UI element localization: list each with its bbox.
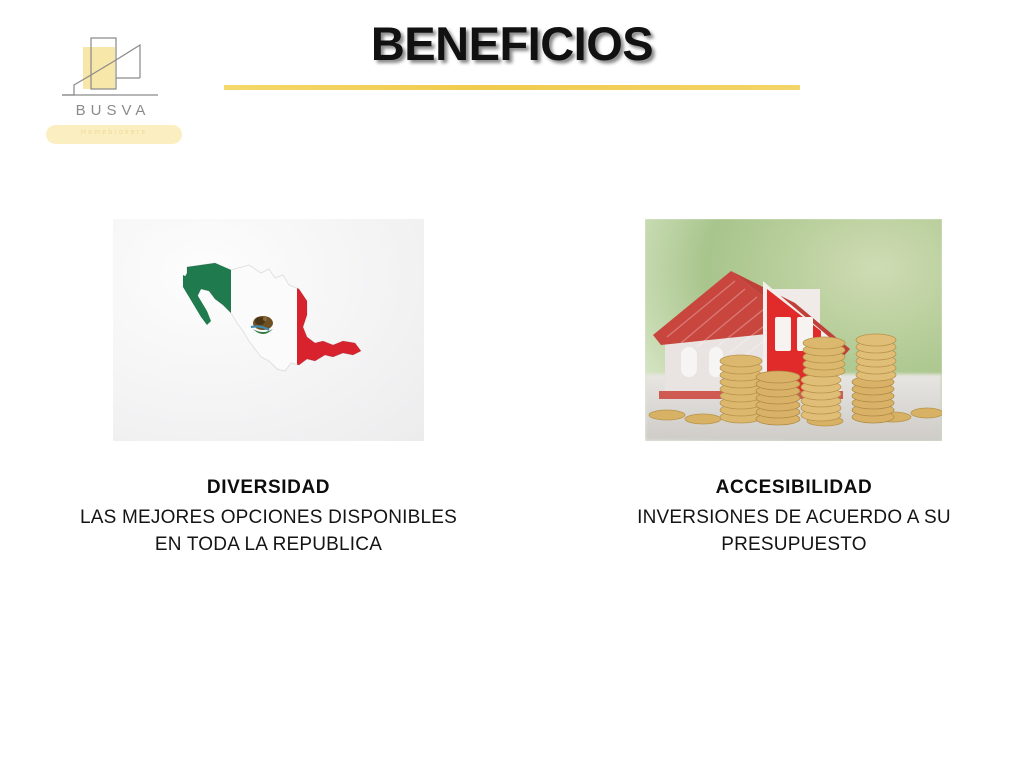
mexico-map-image — [113, 219, 424, 441]
benefit-card-accesibilidad: ACCESIBILIDAD INVERSIONES DE ACUERDO A S… — [645, 219, 942, 559]
benefit-description-line2: EN TODA LA REPUBLICA — [41, 531, 496, 559]
slide-beneficios: BUSVA Homebrokers BENEFICIOS — [0, 0, 1024, 768]
benefit-description-line1: INVERSIONES DE ACUERDO A SU — [585, 504, 1003, 532]
logo-wordmark: BUSVA — [28, 102, 198, 119]
title-underline-rule — [224, 85, 800, 90]
benefit-caption: DIVERSIDAD LAS MEJORES OPCIONES DISPONIB… — [41, 475, 496, 559]
benefit-heading: DIVERSIDAD — [41, 475, 496, 501]
benefit-description-line2: PRESUPUESTO — [585, 531, 1003, 559]
house-coins-icon — [645, 219, 942, 441]
logo-tagline: Homebrokers — [46, 129, 182, 136]
benefit-card-diversidad: DIVERSIDAD LAS MEJORES OPCIONES DISPONIB… — [113, 219, 424, 559]
benefit-description-line1: LAS MEJORES OPCIONES DISPONIBLES — [41, 504, 496, 532]
house-coins-image — [645, 219, 942, 441]
benefit-caption: ACCESIBILIDAD INVERSIONES DE ACUERDO A S… — [585, 475, 1003, 559]
benefit-heading: ACCESIBILIDAD — [585, 475, 1003, 501]
page-title: BENEFICIOS — [0, 16, 1024, 71]
mexico-map-icon — [157, 245, 387, 420]
